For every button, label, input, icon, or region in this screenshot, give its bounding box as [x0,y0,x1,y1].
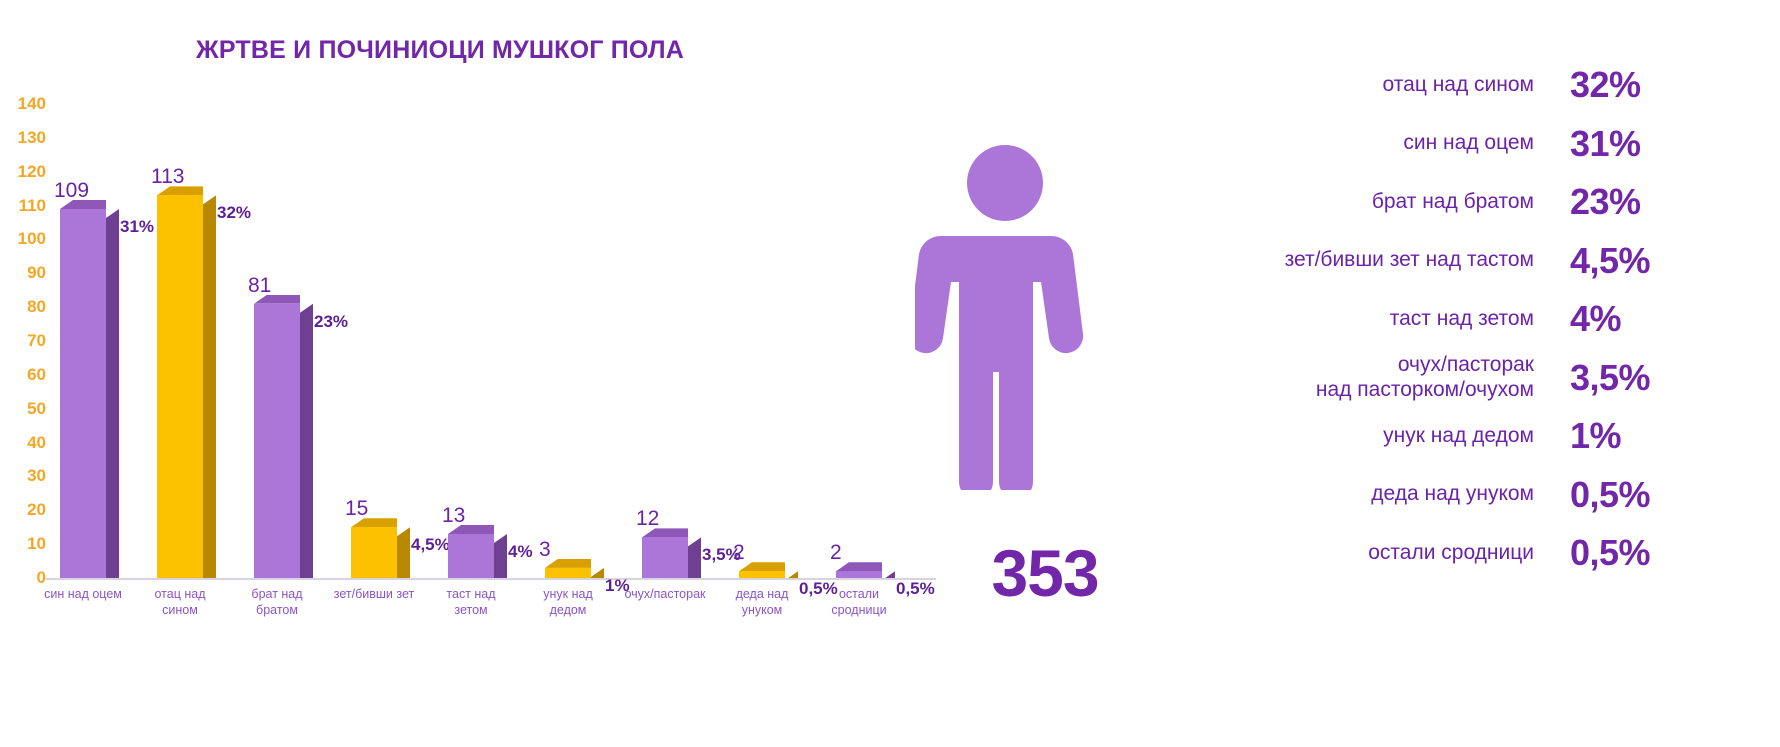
y-axis-tick: 40 [0,433,46,453]
bar-face-side [106,209,119,578]
chart-bar[interactable]: 12 [642,537,688,578]
bar-face-front [351,527,397,578]
bar-percent-label: 4% [508,542,533,562]
x-axis-label-line: сродници [805,603,913,619]
chart-bar[interactable]: 81 [254,304,300,578]
legend-label: деда над унуком [1180,482,1570,507]
y-axis-tick: 100 [0,229,46,249]
bar-percent-label: 4,5% [411,535,450,555]
male-person-pictogram-icon [915,140,1095,490]
legend-label-line: над пасторком/очухом [1180,378,1534,403]
x-axis-label-line: унук над [514,587,622,603]
legend-label-line: унук над дедом [1180,424,1534,449]
legend-value: 4% [1570,298,1744,340]
figure-panel: 353 [900,0,1180,747]
x-axis-label: зет/бивши зет [320,587,428,603]
x-axis-label-line: братом [223,603,331,619]
bar-face-side [397,527,410,578]
bar-value-label: 13 [442,504,512,528]
x-axis-label-line: таст над [417,587,525,603]
x-axis-label-line: зет/бивши зет [320,587,428,603]
legend-label: зет/бивши зет над тастом [1180,248,1570,273]
chart-bar[interactable]: 2 [836,571,882,578]
total-count: 353 [935,535,1155,611]
y-axis-tick: 70 [0,331,46,351]
legend-label: таст над зетом [1180,307,1570,332]
chart-bar[interactable]: 113 [157,195,203,578]
y-axis-tick: 0 [0,568,46,588]
bar-face-side [494,534,507,578]
legend-label: остали сродници [1180,541,1570,566]
legend-value: 23% [1570,181,1744,223]
bar-value-label: 15 [345,497,415,521]
chart-bar[interactable]: 15 [351,527,397,578]
x-axis-label-line: зетом [417,603,525,619]
bar-value-label: 2 [830,541,900,565]
bar-percent-label: 23% [314,312,348,332]
x-axis-label-line: деда над [708,587,816,603]
bar-value-label: 109 [54,179,124,203]
legend-value: 1% [1570,415,1744,457]
y-axis-tick: 10 [0,534,46,554]
bar-value-label: 3 [539,538,609,562]
legend-value: 32% [1570,64,1744,106]
y-axis-tick: 140 [0,94,46,114]
y-axis-tick: 60 [0,365,46,385]
legend-label-line: отац над сином [1180,73,1534,98]
bar-face-front [836,571,882,578]
x-axis-label-line: сином [126,603,234,619]
infographic-page: ЖРТВЕ И ПОЧИНИОЦИ МУШКОГ ПОЛА 0102030405… [0,0,1780,747]
legend-value: 4,5% [1570,240,1744,282]
bar-face-side [591,568,604,578]
bar-face-side [785,571,798,578]
y-axis-tick: 90 [0,263,46,283]
chart-bar[interactable]: 109 [60,209,106,578]
bar-face-front [448,534,494,578]
chart-plot-area: 0102030405060708090100110120130140 10931… [0,90,1000,650]
legend-row[interactable]: деда над унуком0,5% [1180,466,1780,525]
x-axis-label-line: брат над [223,587,331,603]
legend-row[interactable]: брат над братом23% [1180,173,1780,232]
legend-row[interactable]: остали сродници0,5% [1180,524,1780,583]
x-axis-label-line: дедом [514,603,622,619]
x-axis-label: унук наддедом [514,587,622,618]
legend-row[interactable]: таст над зетом4% [1180,290,1780,349]
legend-label: унук над дедом [1180,424,1570,449]
x-axis-label: брат надбратом [223,587,331,618]
legend-row[interactable]: син над оцем31% [1180,115,1780,174]
legend-value: 0,5% [1570,474,1744,516]
bar-face-side [882,571,895,578]
bar-percent-label: 32% [217,203,251,223]
bar-value-label: 81 [248,274,318,298]
legend-label-line: деда над унуком [1180,482,1534,507]
x-axis-label: син над оцем [29,587,137,603]
bar-face-side [688,537,701,578]
y-axis-tick: 130 [0,128,46,148]
bar-value-label: 12 [636,507,706,531]
y-axis-tick: 80 [0,297,46,317]
legend-label: син над оцем [1180,131,1570,156]
legend-value: 0,5% [1570,532,1744,574]
bar-face-front [157,195,203,578]
legend-label: очух/пасторакнад пасторком/очухом [1180,353,1570,403]
legend-label-line: брат над братом [1180,190,1534,215]
legend-value: 3,5% [1570,357,1744,399]
legend-row[interactable]: очух/пасторакнад пасторком/очухом3,5% [1180,349,1780,408]
bar-face-front [545,568,591,578]
legend-row[interactable]: отац над сином32% [1180,56,1780,115]
y-axis-tick: 50 [0,399,46,419]
y-axis-tick: 30 [0,466,46,486]
chart-bar[interactable]: 2 [739,571,785,578]
bar-face-side [300,304,313,578]
legend-value: 31% [1570,123,1744,165]
x-axis-label-line: отац над [126,587,234,603]
bar-face-front [254,304,300,578]
bar-chart-panel: ЖРТВЕ И ПОЧИНИОЦИ МУШКОГ ПОЛА 0102030405… [0,0,1000,747]
legend-label-line: очух/пасторак [1180,353,1534,378]
y-axis-tick: 20 [0,500,46,520]
chart-bar[interactable]: 3 [545,568,591,578]
legend-list: отац над сином32%син над оцем31%брат над… [1180,56,1780,656]
x-axis-label-line: син над оцем [29,587,137,603]
legend-row[interactable]: зет/бивши зет над тастом4,5% [1180,232,1780,291]
x-axis-label-line: очух/пасторак [611,587,719,603]
legend-label-line: син над оцем [1180,131,1534,156]
bar-face-front [642,537,688,578]
bar-face-side [203,195,216,578]
bar-percent-label: 31% [120,217,154,237]
chart-title: ЖРТВЕ И ПОЧИНИОЦИ МУШКОГ ПОЛА [0,36,880,65]
legend-row[interactable]: унук над дедом1% [1180,407,1780,466]
y-axis-tick: 120 [0,162,46,182]
y-axis-tick: 110 [0,196,46,216]
legend-label: отац над сином [1180,73,1570,98]
x-axis-label: таст надзетом [417,587,525,618]
x-axis-label: осталисродници [805,587,913,618]
bar-face-front [739,571,785,578]
x-axis-label: деда надунуком [708,587,816,618]
chart-bar[interactable]: 13 [448,534,494,578]
bar-value-label: 113 [151,165,221,189]
legend-label-line: зет/бивши зет над тастом [1180,248,1534,273]
legend-label: брат над братом [1180,190,1570,215]
bar-value-label: 2 [733,541,803,565]
bar-face-front [60,209,106,578]
x-axis-label-line: остали [805,587,913,603]
x-axis-label: очух/пасторак [611,587,719,603]
legend-label-line: остали сродници [1180,541,1534,566]
x-axis-label-line: унуком [708,603,816,619]
legend-label-line: таст над зетом [1180,307,1534,332]
x-axis-label: отац надсином [126,587,234,618]
